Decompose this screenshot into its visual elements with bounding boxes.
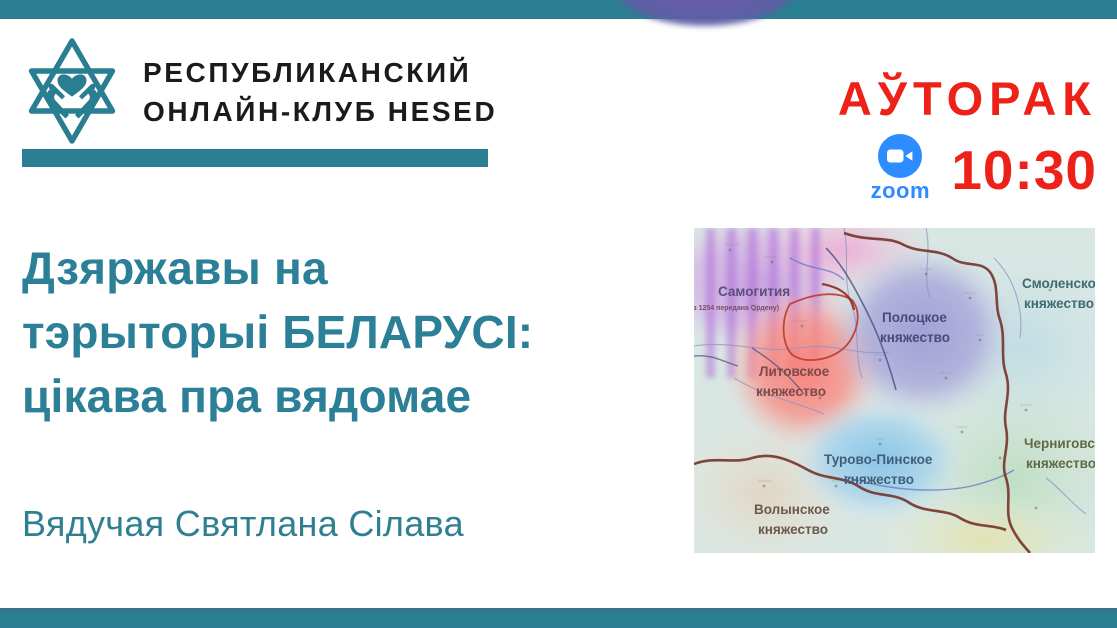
map-label-turov-pinsk-1: Турово-Пинское [824, 452, 933, 467]
top-accent-bar [0, 0, 1117, 19]
zoom-logo: zoom [863, 134, 937, 202]
svg-text:Орша: Орша [974, 333, 984, 337]
brand-name: РЕСПУБЛИКАНСКИЙ ОНЛАЙН-КЛУБ HESED [143, 53, 497, 131]
brand-underline-bar [22, 149, 488, 167]
svg-text:Менск: Менск [874, 353, 885, 357]
map-label-chernigov-1: Черниговское [1024, 436, 1095, 451]
svg-text:Полацк: Полацк [920, 267, 933, 271]
start-time: 10:30 [951, 143, 1097, 198]
map-label-turov-pinsk-2: княжество [844, 472, 914, 487]
slide-header: РЕСПУБЛИКАНСКИЙ ОНЛАЙН-КЛУБ HESED АЎТОРА… [0, 19, 1117, 199]
presenter-label: Вядучая Святлана Сілава [22, 502, 464, 545]
weekday-label: АЎТОРАК [838, 75, 1097, 122]
map-label-samogitia: Самогития [718, 284, 790, 299]
svg-text:Магілёў: Магілёў [940, 371, 953, 375]
map-label-volyn-2: княжество [758, 522, 828, 537]
svg-text:Пінск: Пінск [830, 479, 839, 483]
map-label-smolensk-2: княжество [1024, 296, 1094, 311]
schedule-time-row: zoom 10:30 [863, 134, 1097, 206]
brand-name-line-2: ОНЛАЙН-КЛУБ HESED [143, 92, 497, 131]
map-label-chernigov-2: княжество [1026, 456, 1095, 471]
page-title-line-2: тэрыторыі БЕЛАРУСІ: [22, 300, 662, 364]
svg-text:Віцебск: Віцебск [964, 291, 977, 295]
svg-text:Бранск: Бранск [1020, 403, 1032, 407]
map-label-lithuania-2: княжество [756, 384, 826, 399]
page-title-line-3: цікава пра вядомае [22, 364, 662, 428]
bottom-accent-bar-shade [0, 608, 1117, 612]
page-title-line-1: Дзяржавы на [22, 236, 662, 300]
map-label-volyn-1: Волынское [754, 502, 830, 517]
zoom-video-camera-icon [878, 134, 922, 178]
map-label-lithuania-1: Литовское [759, 364, 830, 379]
star-of-david-hands-heart-icon [16, 35, 128, 147]
svg-text:Слуцк: Слуцк [874, 437, 885, 441]
brand-name-line-1: РЕСПУБЛИКАНСКИЙ [143, 57, 471, 88]
map-label-smolensk-1: Смоленское [1022, 276, 1095, 291]
page-title: Дзяржавы на тэрыторыі БЕЛАРУСІ: цікава п… [22, 236, 662, 428]
map-label-polotsk-1: Полоцкое [882, 310, 947, 325]
presentation-slide: РЕСПУБЛИКАНСКИЙ ОНЛАЙН-КЛУБ HESED АЎТОРА… [0, 0, 1117, 628]
svg-text:Шяуляй: Шяуляй [764, 255, 777, 259]
svg-text:Берасце: Берасце [758, 479, 772, 483]
svg-text:Тельшяй: Тельшяй [724, 243, 739, 247]
map-label-polotsk-2: княжество [880, 330, 950, 345]
historical-map-image: ТельшяйШяуляй КаунасВильня МенскПолацк В… [694, 228, 1095, 553]
svg-text:Гомель: Гомель [956, 425, 968, 429]
zoom-wordmark: zoom [871, 180, 930, 202]
svg-text:Вильня: Вильня [794, 319, 806, 323]
map-label-samogitia-note: (в 1254 передана Ордену) [694, 305, 779, 312]
